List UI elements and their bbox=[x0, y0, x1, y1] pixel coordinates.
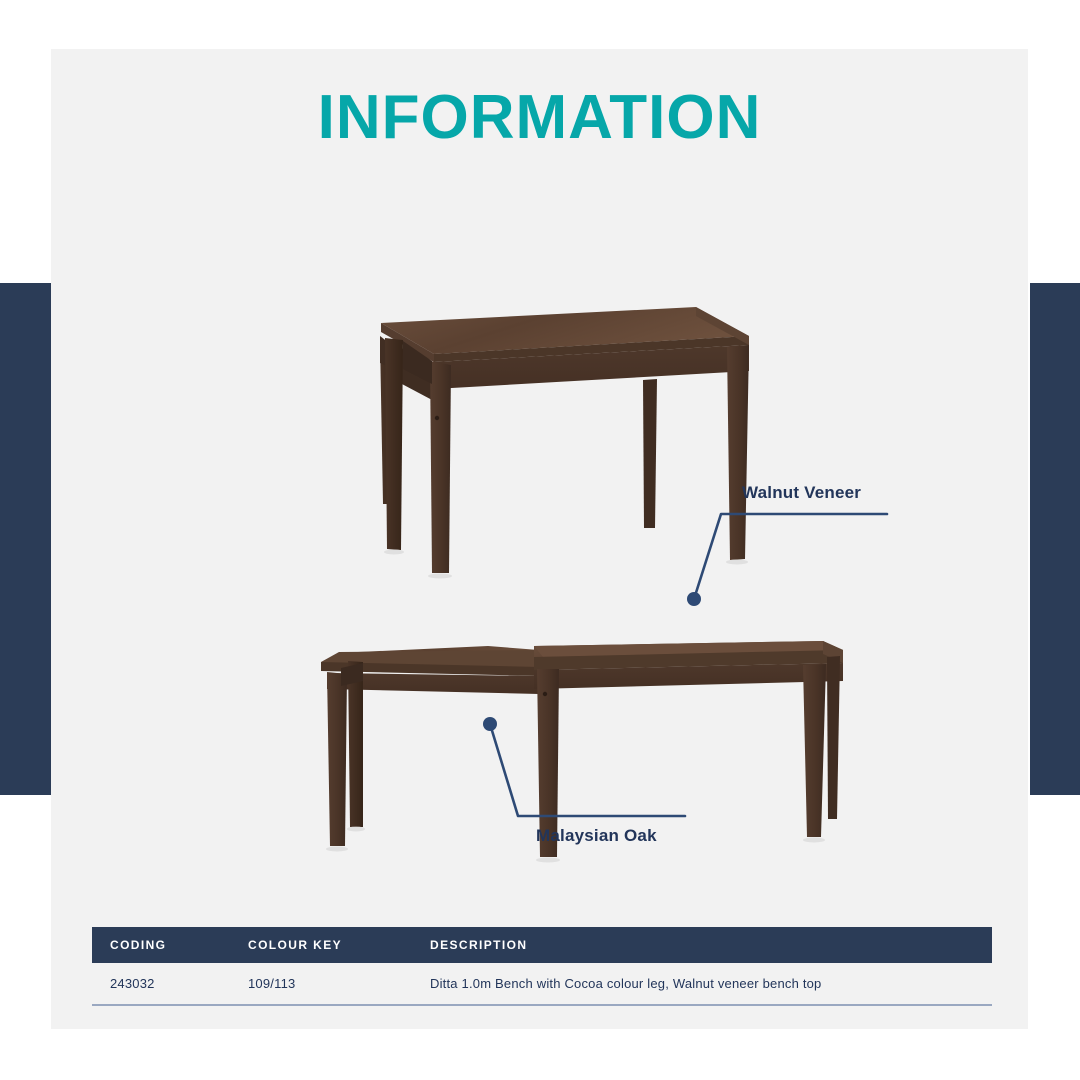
table-row: 243032 109/113 Ditta 1.0m Bench with Coc… bbox=[92, 963, 992, 1006]
specification-table: CODING COLOUR KEY DESCRIPTION 243032 109… bbox=[92, 927, 992, 1006]
decorative-bar-right bbox=[1030, 283, 1080, 795]
callout-dot-walnut bbox=[687, 592, 701, 606]
page-title: INFORMATION bbox=[51, 87, 1028, 149]
cell-coding: 243032 bbox=[92, 976, 248, 991]
information-sheet: INFORMATION bbox=[0, 0, 1080, 1080]
column-header-description: DESCRIPTION bbox=[430, 938, 992, 952]
callout-label-malaysian-oak: Malaysian Oak bbox=[536, 826, 657, 846]
bench-back-graphic bbox=[321, 646, 539, 852]
callout-label-walnut-veneer: Walnut Veneer bbox=[742, 483, 861, 503]
decorative-bar-left bbox=[0, 283, 52, 795]
callout-leader-walnut bbox=[694, 514, 887, 599]
content-panel: INFORMATION bbox=[51, 49, 1028, 1029]
callout-leader-oak bbox=[490, 724, 685, 816]
cell-colour-key: 109/113 bbox=[248, 976, 430, 991]
column-header-coding: CODING bbox=[92, 938, 248, 952]
table-header-row: CODING COLOUR KEY DESCRIPTION bbox=[92, 927, 992, 963]
product-illustration bbox=[51, 49, 1028, 929]
callout-dot-oak bbox=[483, 717, 497, 731]
column-header-colour-key: COLOUR KEY bbox=[248, 938, 430, 952]
cell-description: Ditta 1.0m Bench with Cocoa colour leg, … bbox=[430, 976, 992, 991]
dining-table-graphic bbox=[380, 307, 749, 579]
